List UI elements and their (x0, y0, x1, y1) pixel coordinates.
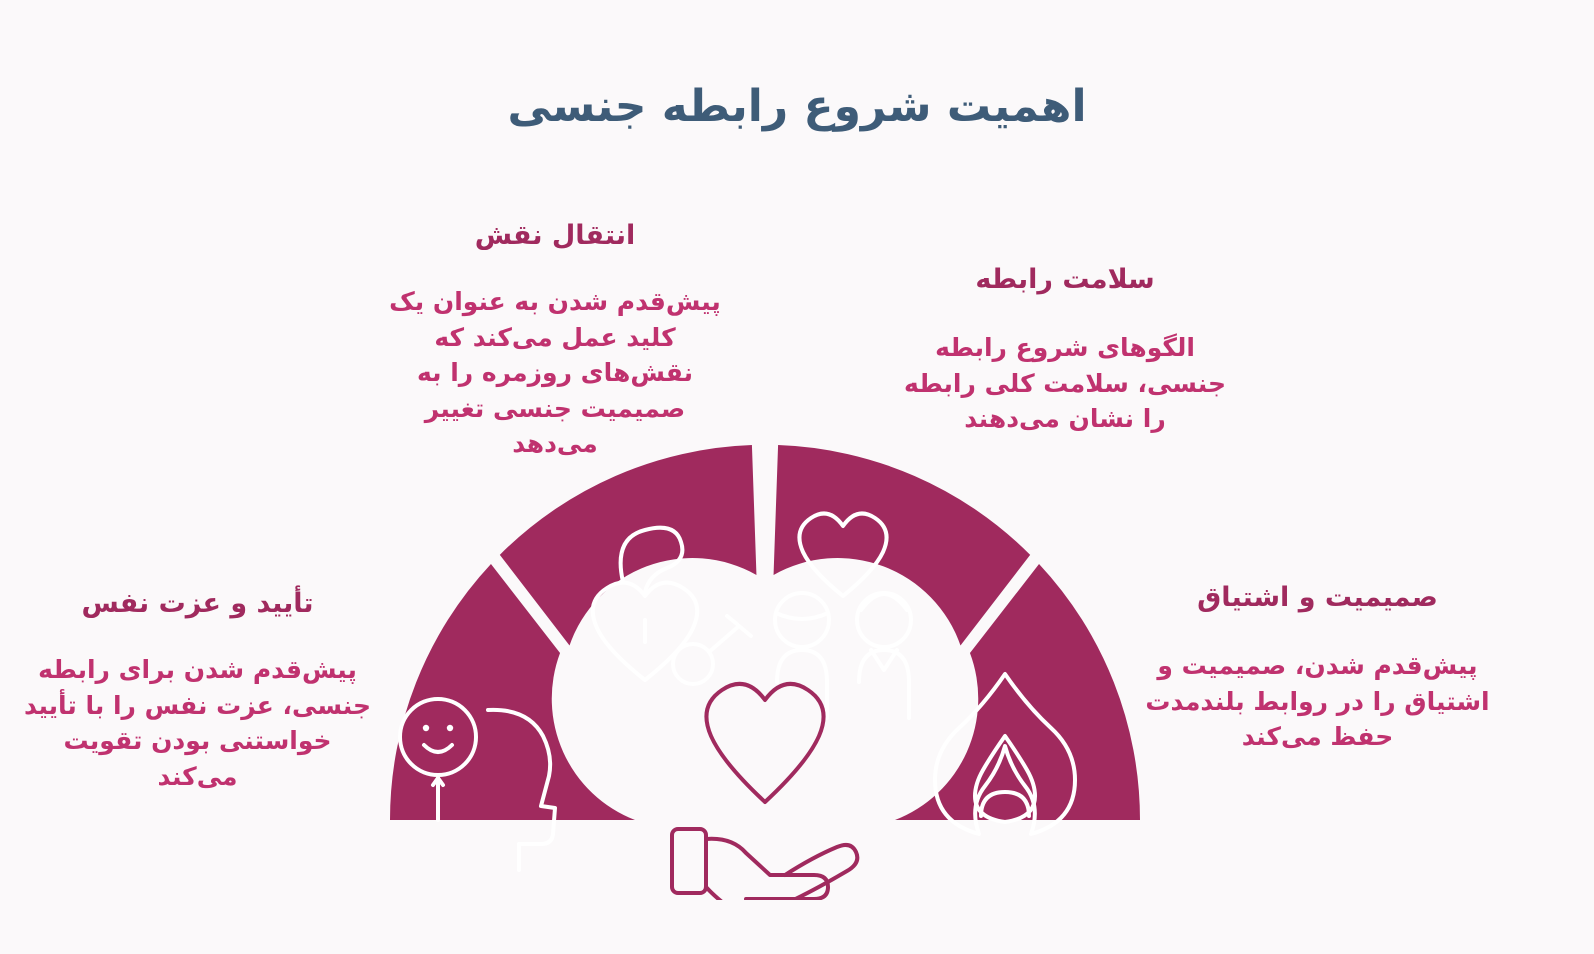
page-title: اهمیت شروع رابطه جنسی (0, 79, 1594, 134)
segment-intimacy-passion[interactable] (895, 564, 1140, 834)
callout-relationship-health: سلامت رابطه الگوهای شروع رابطه جنسی، سلا… (900, 262, 1230, 437)
callout-role-transition: انتقال نقش پیش‌قدم شدن به عنوان یک کلید … (380, 218, 730, 462)
callout-heading: انتقال نقش (380, 218, 730, 254)
callout-body: پیش‌قدم شدن، صمیمیت و اشتیاق را در روابط… (1140, 648, 1495, 755)
heart-in-open-hand-icon (672, 684, 857, 900)
callout-heading: تأیید و عزت نفس (20, 586, 375, 622)
callout-heading: صمیمیت و اشتیاق (1140, 580, 1495, 616)
callout-body: الگوهای شروع رابطه جنسی، سلامت کلی رابطه… (900, 330, 1230, 437)
infographic-canvas: اهمیت شروع رابطه جنسی انتقال نقش پیش‌قدم… (0, 0, 1594, 954)
callout-heading: سلامت رابطه (900, 262, 1230, 298)
callout-intimacy-passion: صمیمیت و اشتیاق پیش‌قدم شدن، صمیمیت و اش… (1140, 580, 1495, 755)
segment-validation-self-esteem[interactable] (390, 564, 635, 870)
semicircle-donut-diagram (355, 430, 1185, 900)
callout-body: پیش‌قدم شدن برای رابطه جنسی، عزت نفس را … (20, 652, 375, 794)
callout-validation-self-esteem: تأیید و عزت نفس پیش‌قدم شدن برای رابطه ج… (20, 586, 375, 794)
